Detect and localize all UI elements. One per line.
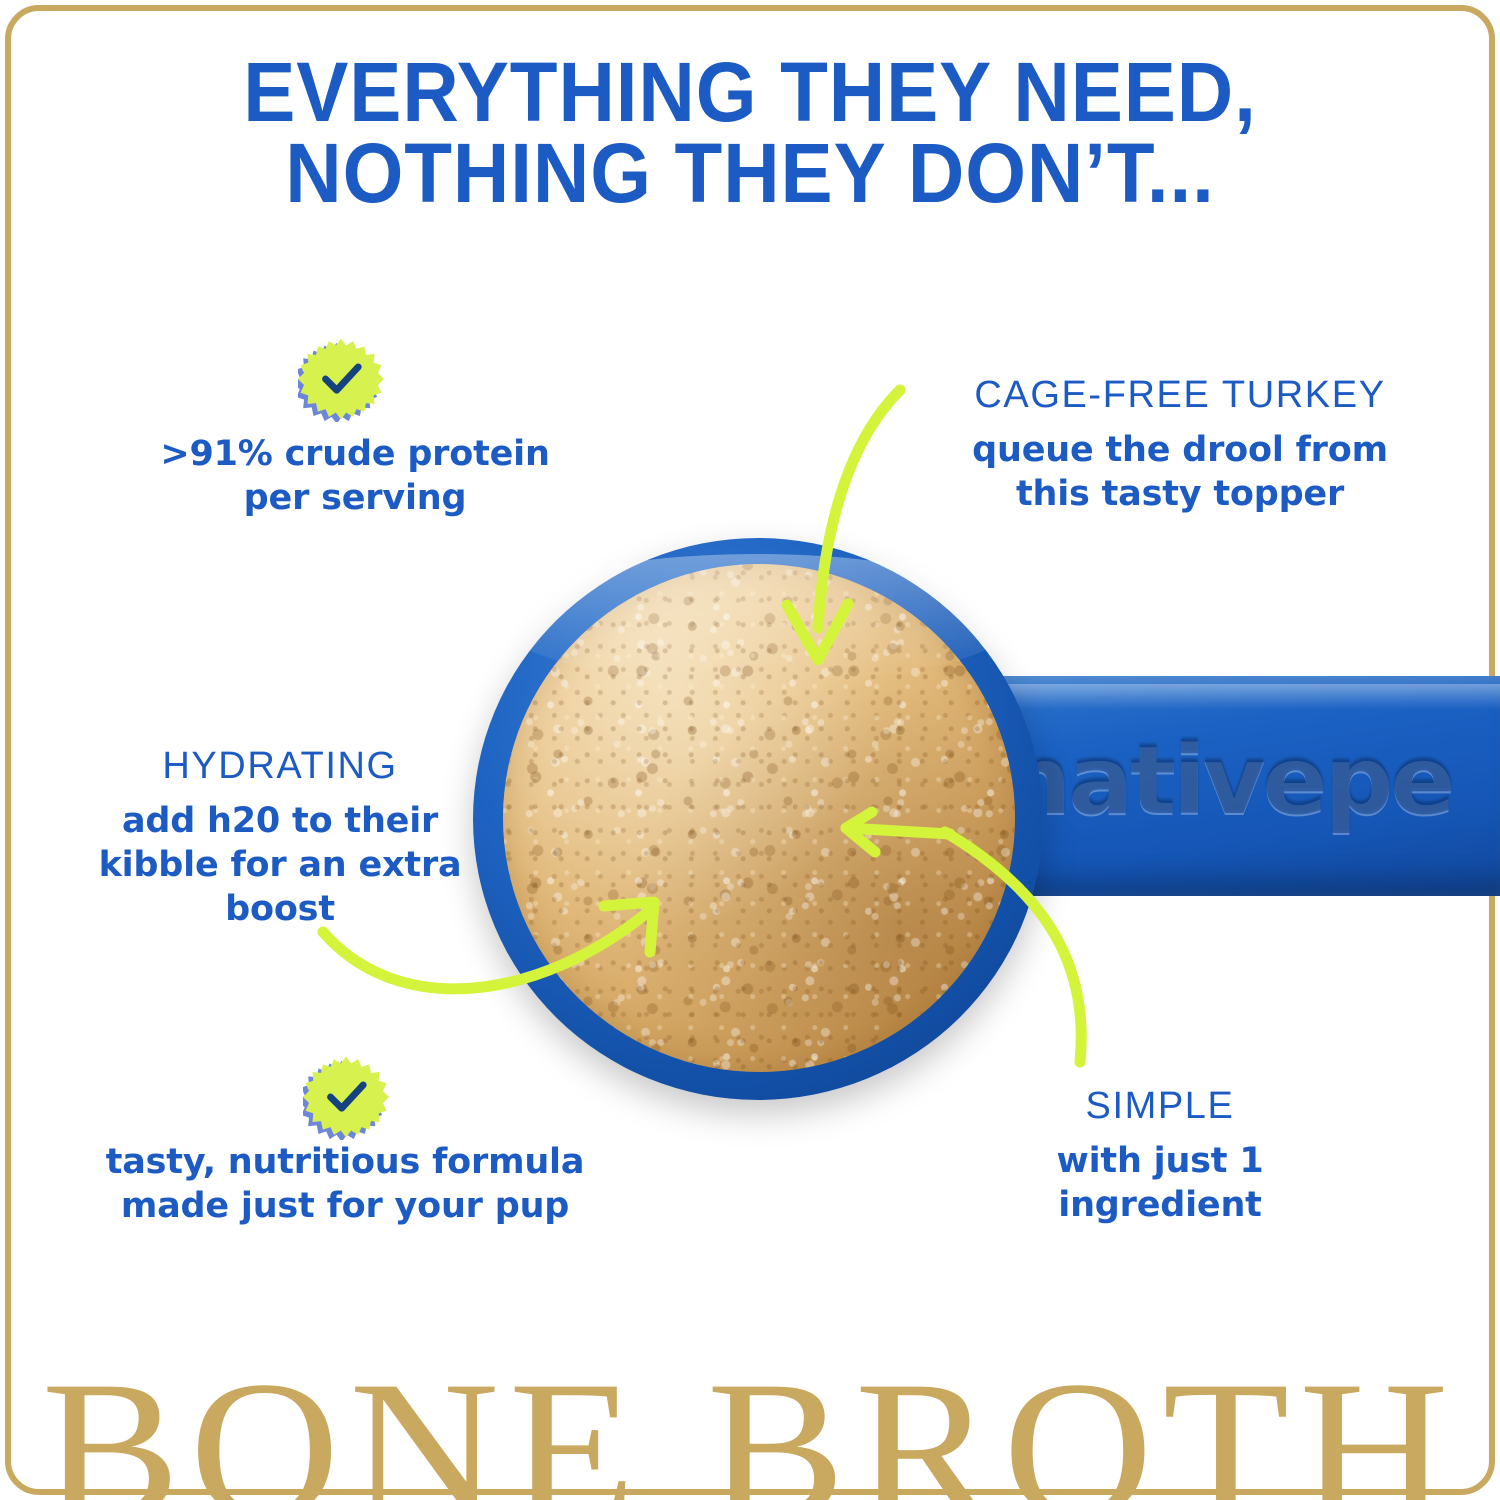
- scoop-handle: nativepe: [975, 676, 1500, 896]
- callout-protein-body: >91% crude protein per serving: [120, 432, 590, 520]
- callout-hydrating-line-2: kibble for an extra: [99, 845, 462, 885]
- callout-hydrating-line-1: add h20 to their: [122, 801, 438, 841]
- powder-grain-fine: [503, 564, 1015, 1072]
- callout-turkey-kicker: CAGE-FREE TURKEY: [900, 374, 1460, 418]
- product-infographic: EVERYTHING THEY NEED, NOTHING THEY DON’T…: [0, 0, 1500, 1500]
- scoop-cup: [473, 538, 1043, 1100]
- callout-turkey-line-2: this tasty topper: [1016, 474, 1344, 514]
- callout-protein-line-2: per serving: [244, 478, 467, 518]
- callout-turkey-line-1: queue the drool from: [972, 430, 1388, 470]
- headline-line-2: NOTHING THEY DON’T...: [53, 133, 1448, 214]
- callout-simple-kicker: SIMPLE: [950, 1085, 1370, 1129]
- page-title: EVERYTHING THEY NEED, NOTHING THEY DON’T…: [53, 52, 1448, 215]
- callout-hydrating-body: add h20 to their kibble for an extra boo…: [70, 799, 490, 931]
- callout-turkey-body: queue the drool from this tasty topper: [900, 428, 1460, 516]
- callout-hydrating: HYDRATING add h20 to their kibble for an…: [70, 745, 490, 931]
- callout-simple: SIMPLE with just 1 ingredient: [950, 1085, 1370, 1227]
- callout-turkey: CAGE-FREE TURKEY queue the drool from th…: [900, 374, 1460, 516]
- callout-hydrating-line-3: boost: [225, 889, 335, 929]
- check-badge-tasty: [303, 1054, 389, 1140]
- check-badge-protein: [298, 336, 384, 422]
- product-wordmark: BONE BROTH: [0, 1352, 1500, 1500]
- callout-hydrating-kicker: HYDRATING: [70, 745, 490, 789]
- callout-protein-line-1: >91% crude protein: [160, 434, 549, 474]
- starburst-check-icon: [303, 1054, 389, 1140]
- callout-simple-line-1: with just 1 ingredient: [1057, 1141, 1264, 1225]
- powder-fill: [503, 564, 1015, 1072]
- callout-simple-body: with just 1 ingredient: [950, 1139, 1370, 1227]
- product-photo-scoop: nativepe: [455, 500, 1500, 1100]
- callout-tasty: tasty, nutritious formula made just for …: [100, 1140, 590, 1228]
- starburst-check-icon: [298, 336, 384, 422]
- callout-tasty-line-1: tasty, nutritious formula: [106, 1142, 585, 1182]
- callout-tasty-line-2: made just for your pup: [121, 1186, 569, 1226]
- brand-embossed-logo: nativepe: [1003, 724, 1500, 836]
- callout-tasty-body: tasty, nutritious formula made just for …: [100, 1140, 590, 1228]
- headline-line-1: EVERYTHING THEY NEED,: [243, 45, 1257, 139]
- callout-protein: >91% crude protein per serving: [120, 432, 590, 520]
